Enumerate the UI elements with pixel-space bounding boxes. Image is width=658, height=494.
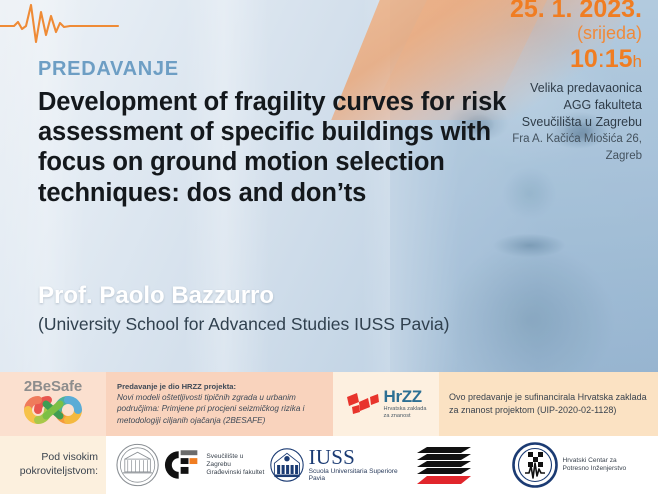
hcpi-caption-line-2: Potresno Inženjerstvo bbox=[562, 465, 626, 472]
logo-gradjevinski-fakultet bbox=[405, 443, 512, 487]
iuss-caption: Scuola Universitaria Superiore Pavia bbox=[309, 468, 406, 482]
sponsor-band: 2BeSafe bbox=[0, 372, 658, 436]
hcpi-seal-icon bbox=[512, 442, 558, 488]
iuss-wordmark: IUSS bbox=[309, 448, 406, 468]
project-heading: Predavanje je dio HRZZ projekta: bbox=[117, 382, 324, 391]
stacked-slabs-icon bbox=[405, 443, 487, 487]
venue-line-1: Velika predavaonica bbox=[530, 81, 642, 95]
unizg-caption-line-2: Građevinski fakultet bbox=[206, 469, 264, 476]
hrzz-subtitle-line-1: Hrvatska zaklada bbox=[384, 406, 427, 412]
patronage-label: Pod visokim pokroviteljstvom: bbox=[0, 436, 106, 494]
logo-iuss: IUSS Scuola Universitaria Superiore Pavi… bbox=[269, 443, 405, 487]
event-time-hour: 10 bbox=[570, 45, 598, 73]
venue-line-3: Sveučilišta u Zagrebu bbox=[522, 115, 642, 129]
project-description-cell: Predavanje je dio HRZZ projekta: Novi mo… bbox=[106, 372, 333, 436]
event-date: 25. 1. 2023. bbox=[412, 0, 642, 23]
venue-line-5: Zagreb bbox=[606, 150, 642, 162]
besafe-infinity-icon bbox=[16, 395, 90, 425]
patronage-logo-row: Sveučilište u Zagrebu Građevinski fakult… bbox=[106, 436, 658, 494]
event-time: 10:15h bbox=[412, 46, 642, 74]
hcpi-caption-line-1: Hrvatski Centar za bbox=[562, 457, 616, 464]
event-venue: Velika predavaonica AGG fakulteta Sveuči… bbox=[412, 80, 642, 164]
besafe-logo-cell: 2BeSafe bbox=[0, 372, 106, 436]
venue-line-4: Fra A. Kačića Miošića 26, bbox=[512, 133, 642, 145]
funding-note-cell: Ovo predavanje je sufinancirala Hrvatska… bbox=[439, 372, 658, 436]
hcpi-caption: Hrvatski Centar za Potresno Inženjerstvo bbox=[562, 457, 626, 473]
event-info-column: 25. 1. 2023. (srijeda) 10:15h Velika pre… bbox=[412, 0, 642, 165]
patronage-band: Pod visokim pokroviteljstvom: bbox=[0, 436, 658, 494]
patronage-label-line-2: pokroviteljstvom: bbox=[20, 465, 98, 477]
iuss-emblem-icon bbox=[269, 443, 305, 487]
speaker-affiliation: (University School for Advanced Studies … bbox=[38, 314, 449, 335]
hero-area: PREDAVANJE Development of fragility curv… bbox=[0, 0, 658, 372]
hrzz-logo-cell: HrZZ Hrvatska zaklada za znanost bbox=[333, 372, 439, 436]
logo-unizg: Sveučilište u Zagrebu Građevinski fakult… bbox=[114, 442, 269, 488]
hrzz-mark-icon bbox=[346, 391, 380, 417]
logo-hcpi: Hrvatski Centar za Potresno Inženjerstvo bbox=[512, 442, 658, 488]
venue-line-2: AGG fakulteta bbox=[563, 98, 642, 112]
unizg-caption: Sveučilište u Zagrebu Građevinski fakult… bbox=[206, 453, 268, 478]
unizg-gf-mark-icon bbox=[161, 445, 202, 485]
speaker-name: Prof. Paolo Bazzurro bbox=[38, 282, 274, 310]
hrzz-subtitle: Hrvatska zaklada za znanost bbox=[384, 406, 427, 420]
unizg-seal-icon bbox=[114, 442, 161, 488]
event-weekday: (srijeda) bbox=[412, 24, 642, 44]
lecture-poster: PREDAVANJE Development of fragility curv… bbox=[0, 0, 658, 494]
event-time-unit: h bbox=[633, 52, 642, 71]
project-text: Novi modeli oštetljivosti tipičnih zgrad… bbox=[117, 392, 324, 427]
hrzz-wordmark: HrZZ bbox=[384, 388, 427, 405]
besafe-logo-text: 2BeSafe bbox=[16, 378, 90, 395]
hrzz-subtitle-line-2: za znanost bbox=[384, 413, 411, 419]
event-time-separator: : bbox=[598, 45, 605, 73]
funding-text: Ovo predavanje je sufinancirala Hrvatska… bbox=[449, 391, 648, 417]
event-time-minute: 15 bbox=[605, 45, 633, 73]
patronage-label-line-1: Pod visokim bbox=[41, 451, 98, 463]
seismograph-wave-icon bbox=[0, 2, 120, 48]
unizg-caption-line-1: Sveučilište u Zagrebu bbox=[206, 453, 243, 468]
